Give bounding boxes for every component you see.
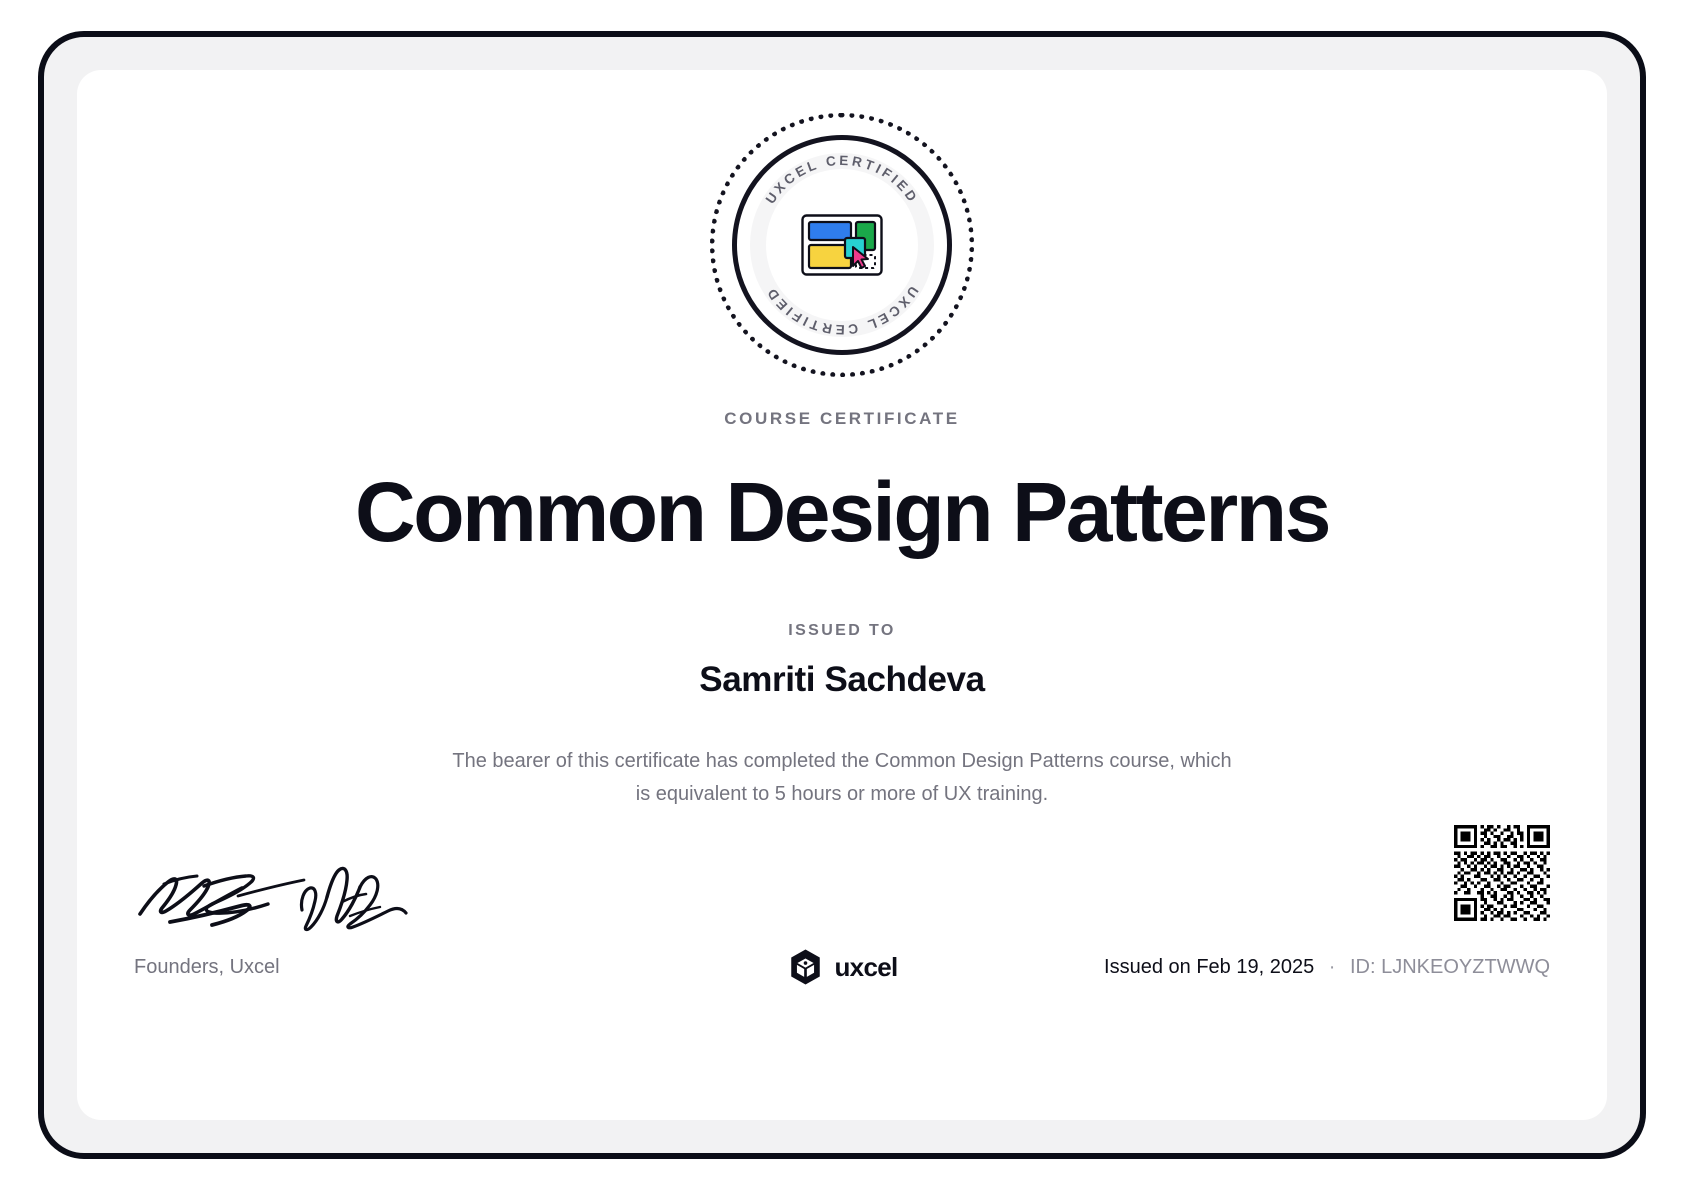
certificate-description: The bearer of this certificate has compl… [452,745,1232,811]
founder-signatures [134,840,424,932]
uxcel-certified-seal: UXCEL CERTIFIED UXCEL CERTIFIED [710,113,974,377]
uxcel-brand-logo: uxcel [787,948,898,986]
course-title: Common Design Patterns [77,470,1607,554]
issued-on-date: Issued on Feb 19, 2025 [1104,956,1314,978]
seal-ring-text-bottom: UXCEL CERTIFIED [763,283,922,337]
seal-ring-text-top: UXCEL CERTIFIED [763,153,922,207]
verification-qr-code[interactable] [1454,825,1550,921]
issued-to-label: ISSUED TO [77,622,1607,640]
certificate-card: UXCEL CERTIFIED UXCEL CERTIFIED COURSE C… [77,70,1607,1120]
signature-marks [134,840,424,932]
uxcel-wordmark: uxcel [835,952,898,983]
issue-metadata: Issued on Feb 19, 2025 · ID: LJNKEOYZTWW… [1104,956,1550,979]
eyebrow-label: COURSE CERTIFICATE [77,409,1607,429]
design-patterns-icon [801,214,883,276]
qr-code-image [1454,825,1550,921]
meta-separator: · [1329,956,1336,978]
recipient-name: Samriti Sachdeva [77,660,1607,700]
founders-caption: Founders, Uxcel [134,956,280,979]
uxcel-hexagon-cube-icon [787,948,825,986]
certificate-id: ID: LJNKEOYZTWWQ [1350,956,1550,978]
certificate-frame: UXCEL CERTIFIED UXCEL CERTIFIED COURSE C… [38,31,1646,1159]
